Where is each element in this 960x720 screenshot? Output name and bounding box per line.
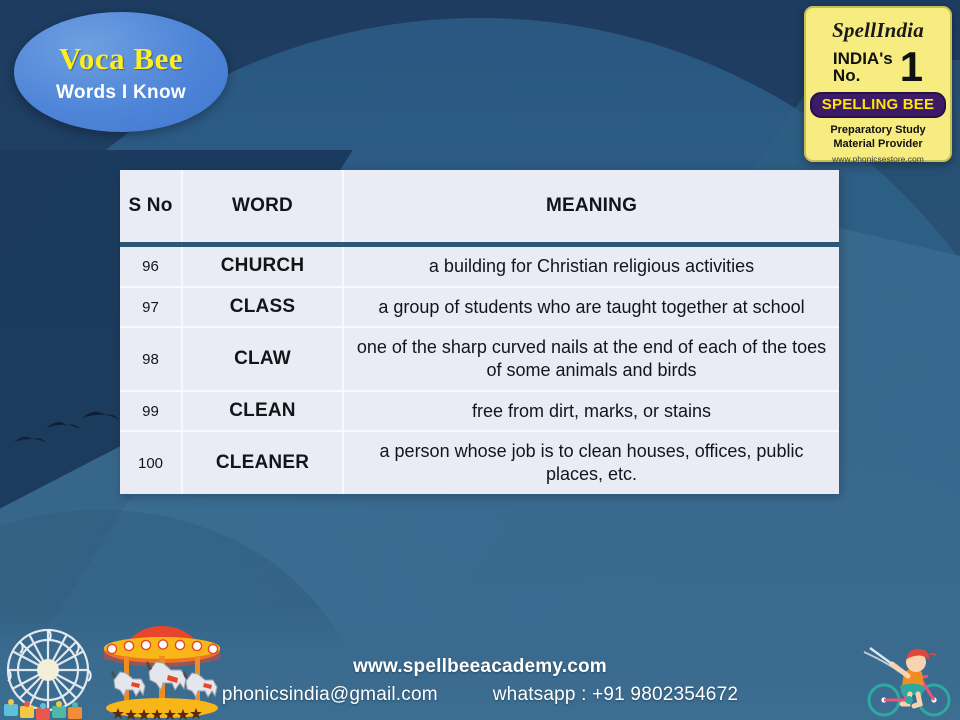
cell-word: CLAW bbox=[182, 327, 343, 390]
footer-contact: www.spellbeeacademy.com phonicsindia@gma… bbox=[0, 656, 960, 706]
table-row: 99 CLEAN free from dirt, marks, or stain… bbox=[120, 391, 839, 432]
column-header-sno: S No bbox=[120, 170, 182, 245]
cell-word: CLASS bbox=[182, 287, 343, 328]
cell-word: CLEAN bbox=[182, 391, 343, 432]
column-header-word: WORD bbox=[182, 170, 343, 245]
table-header-row: S No WORD MEANING bbox=[120, 170, 839, 245]
cell-sno: 96 bbox=[120, 245, 182, 287]
birds-icon bbox=[8, 398, 128, 468]
table-head: S No WORD MEANING bbox=[120, 170, 839, 245]
spellindia-badge: SpellIndia INDIA's No. 1 SPELLING BEE Pr… bbox=[804, 6, 952, 162]
cell-sno: 97 bbox=[120, 287, 182, 328]
cell-meaning: a person whose job is to clean houses, o… bbox=[343, 431, 839, 493]
cell-sno: 98 bbox=[120, 327, 182, 390]
badge-spelling-bee-bar: SPELLING BEE bbox=[810, 92, 946, 118]
badge-website: www.phonicsestore.com bbox=[832, 154, 924, 164]
cell-meaning: one of the sharp curved nails at the end… bbox=[343, 327, 839, 390]
vocabulary-table-container: S No WORD MEANING 96 CHURCH a building f… bbox=[120, 170, 839, 494]
logo-subtitle: Words I Know bbox=[56, 83, 186, 102]
badge-rank-number: 1 bbox=[900, 49, 923, 85]
footer-whatsapp[interactable]: whatsapp : +91 9802354672 bbox=[493, 684, 738, 705]
badge-indias-no: INDIA's No. bbox=[833, 50, 893, 85]
badge-tagline: Preparatory Study Material Provider bbox=[812, 124, 944, 151]
cell-sno: 99 bbox=[120, 391, 182, 432]
badge-rank-group: INDIA's No. 1 bbox=[806, 49, 950, 85]
footer-contact-row: phonicsindia@gmail.com whatsapp : +91 98… bbox=[0, 684, 960, 706]
badge-indias-label: INDIA's bbox=[833, 50, 893, 67]
table-body: 96 CHURCH a building for Christian relig… bbox=[120, 245, 839, 494]
table-row: 97 CLASS a group of students who are tau… bbox=[120, 287, 839, 328]
cell-meaning: a group of students who are taught toget… bbox=[343, 287, 839, 328]
cell-meaning: a building for Christian religious activ… bbox=[343, 245, 839, 287]
badge-brand-name: SpellIndia bbox=[832, 18, 924, 43]
table-row: 96 CHURCH a building for Christian relig… bbox=[120, 245, 839, 287]
column-header-meaning: MEANING bbox=[343, 170, 839, 245]
cell-word: CHURCH bbox=[182, 245, 343, 287]
cell-meaning: free from dirt, marks, or stains bbox=[343, 391, 839, 432]
footer-website[interactable]: www.spellbeeacademy.com bbox=[0, 656, 960, 678]
logo-title: Voca Bee bbox=[59, 43, 183, 74]
table-row: 98 CLAW one of the sharp curved nails at… bbox=[120, 327, 839, 390]
cell-sno: 100 bbox=[120, 431, 182, 493]
voca-bee-logo: Voca Bee Words I Know bbox=[14, 12, 228, 132]
footer-email[interactable]: phonicsindia@gmail.com bbox=[222, 684, 438, 705]
table-row: 100 CLEANER a person whose job is to cle… bbox=[120, 431, 839, 493]
slide-canvas: Voca Bee Words I Know SpellIndia INDIA's… bbox=[0, 0, 960, 720]
cell-word: CLEANER bbox=[182, 431, 343, 493]
vocabulary-table: S No WORD MEANING 96 CHURCH a building f… bbox=[120, 170, 839, 494]
badge-no-label: No. bbox=[833, 67, 893, 84]
